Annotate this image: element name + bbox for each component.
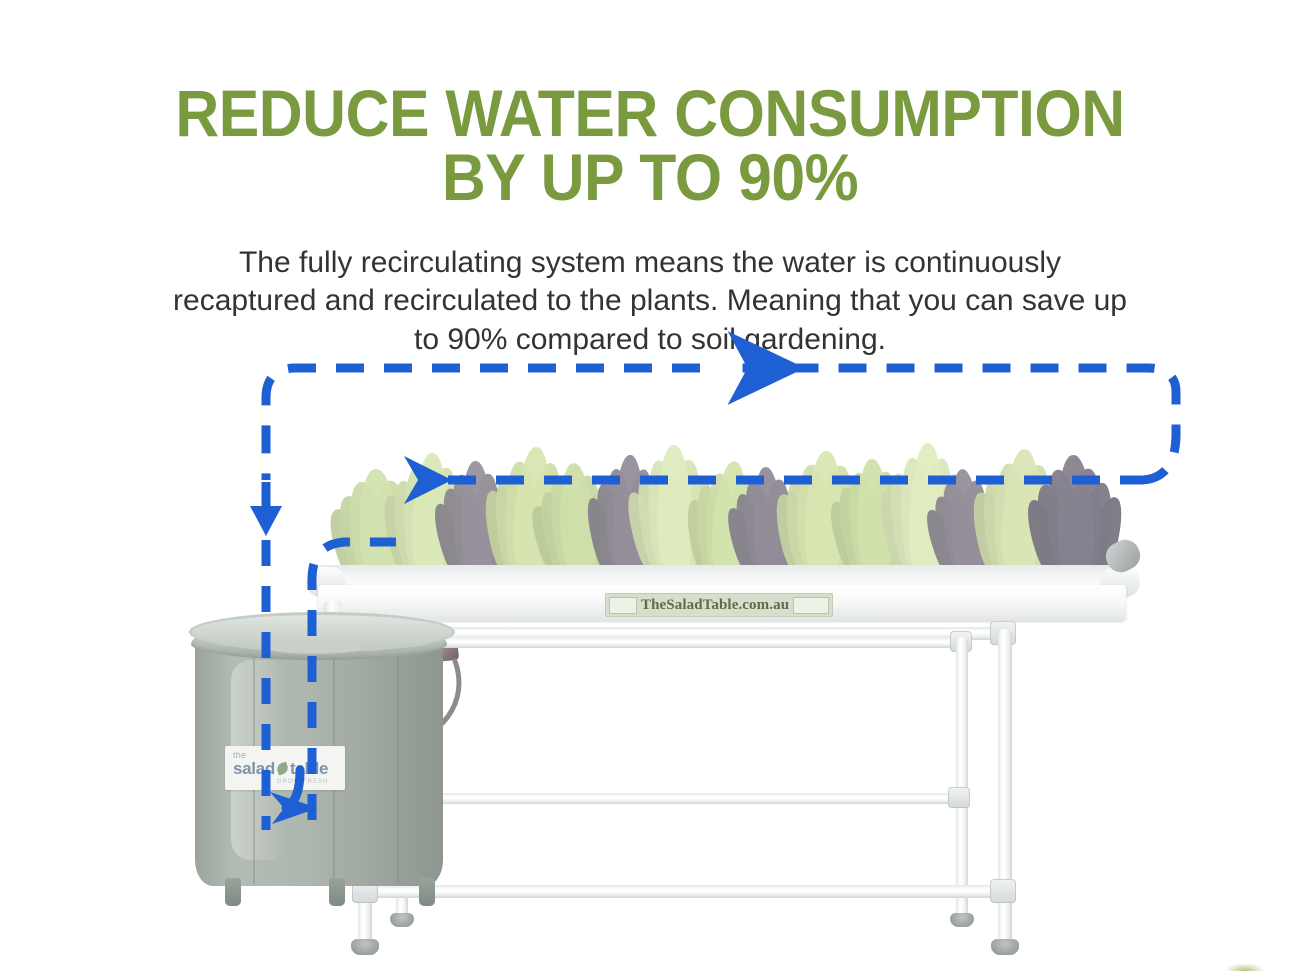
return-path-left-corner bbox=[266, 368, 700, 480]
corner-accent-mark bbox=[1228, 964, 1262, 971]
description-line-2: recaptured and recirculated to the plant… bbox=[90, 282, 1210, 320]
return-arrow-top bbox=[742, 368, 1176, 480]
page-title-line-1: REDUCE WATER CONSUMPTION bbox=[52, 82, 1248, 145]
flow-arrows-layer bbox=[0, 330, 1300, 971]
description-line-1: The fully recirculating system means the… bbox=[90, 244, 1210, 282]
tank-outlet-path bbox=[312, 542, 410, 820]
page-title: REDUCE WATER CONSUMPTION BY UP TO 90% bbox=[52, 82, 1248, 209]
water-flow-diagram: TheSaladTable.com.au bbox=[0, 330, 1300, 971]
feed-arrowhead-tray bbox=[404, 456, 452, 504]
page-title-line-2: BY UP TO 90% bbox=[52, 146, 1248, 209]
infographic-page: REDUCE WATER CONSUMPTION BY UP TO 90% Th… bbox=[0, 0, 1300, 971]
descend-arrow-left bbox=[250, 506, 282, 536]
